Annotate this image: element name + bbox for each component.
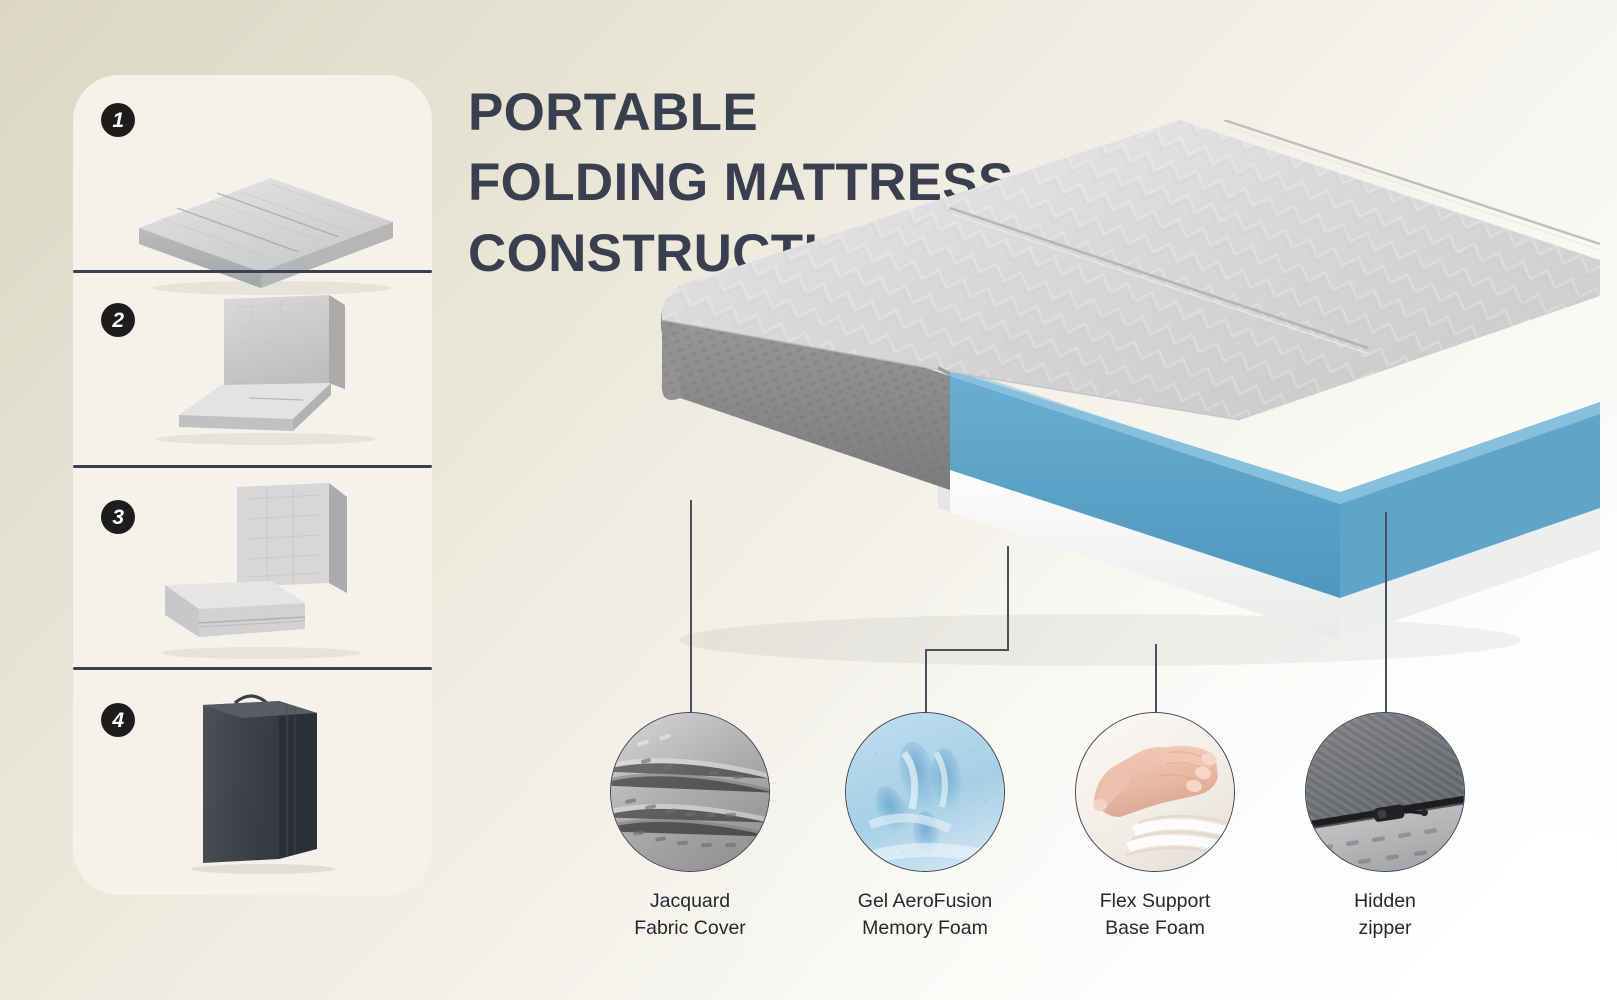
callout-caption-gel: Gel AeroFusion Memory Foam	[793, 888, 1057, 942]
steps-panel: 1	[73, 75, 432, 895]
step-image-1	[121, 170, 411, 295]
infographic-canvas: 1	[0, 0, 1617, 1000]
caption-line-1: Hidden	[1253, 888, 1517, 915]
callout-caption-base-foam: Flex Support Base Foam	[1023, 888, 1287, 942]
step-image-2	[121, 287, 401, 447]
caption-line-2: zipper	[1253, 915, 1517, 942]
caption-line-2: Memory Foam	[793, 915, 1057, 942]
swatch-jacquard-fabric	[610, 712, 770, 872]
callout-hidden-zipper[interactable]: Hidden zipper	[1305, 712, 1465, 872]
swatch-hand-pressing-foam	[1075, 712, 1235, 872]
caption-line-2: Fabric Cover	[558, 915, 822, 942]
leader-line-gel-seg2	[925, 649, 1009, 651]
callout-jacquard-fabric-cover[interactable]: Jacquard Fabric Cover	[610, 712, 770, 872]
product-hero-image	[620, 120, 1600, 680]
step-number-1: 1	[112, 110, 123, 131]
callout-caption-jacquard: Jacquard Fabric Cover	[558, 888, 822, 942]
leader-line-base-foam	[1155, 644, 1157, 712]
step-divider-2	[73, 465, 432, 468]
step-image-4	[155, 687, 365, 877]
caption-line-1: Flex Support	[1023, 888, 1287, 915]
callout-gel-aerofusion-memory-foam[interactable]: Gel AeroFusion Memory Foam	[845, 712, 1005, 872]
leader-line-gel-seg3	[925, 649, 927, 712]
step-divider-1	[73, 270, 432, 273]
callout-flex-support-base-foam[interactable]: Flex Support Base Foam	[1075, 712, 1235, 872]
caption-line-1: Gel AeroFusion	[793, 888, 1057, 915]
leader-line-gel-seg1	[1007, 546, 1009, 650]
caption-line-2: Base Foam	[1023, 915, 1287, 942]
step-divider-3	[73, 667, 432, 670]
step-badge-4: 4	[101, 703, 135, 737]
caption-line-1: Jacquard	[558, 888, 822, 915]
leader-line-zipper	[1385, 512, 1387, 712]
swatch-gel-memory-foam	[845, 712, 1005, 872]
step-badge-1: 1	[101, 103, 135, 137]
leader-line-jacquard	[690, 500, 692, 712]
swatch-hidden-zipper	[1305, 712, 1465, 872]
callout-caption-zipper: Hidden zipper	[1253, 888, 1517, 942]
step-number-4: 4	[112, 710, 123, 731]
step-image-3	[121, 477, 401, 662]
